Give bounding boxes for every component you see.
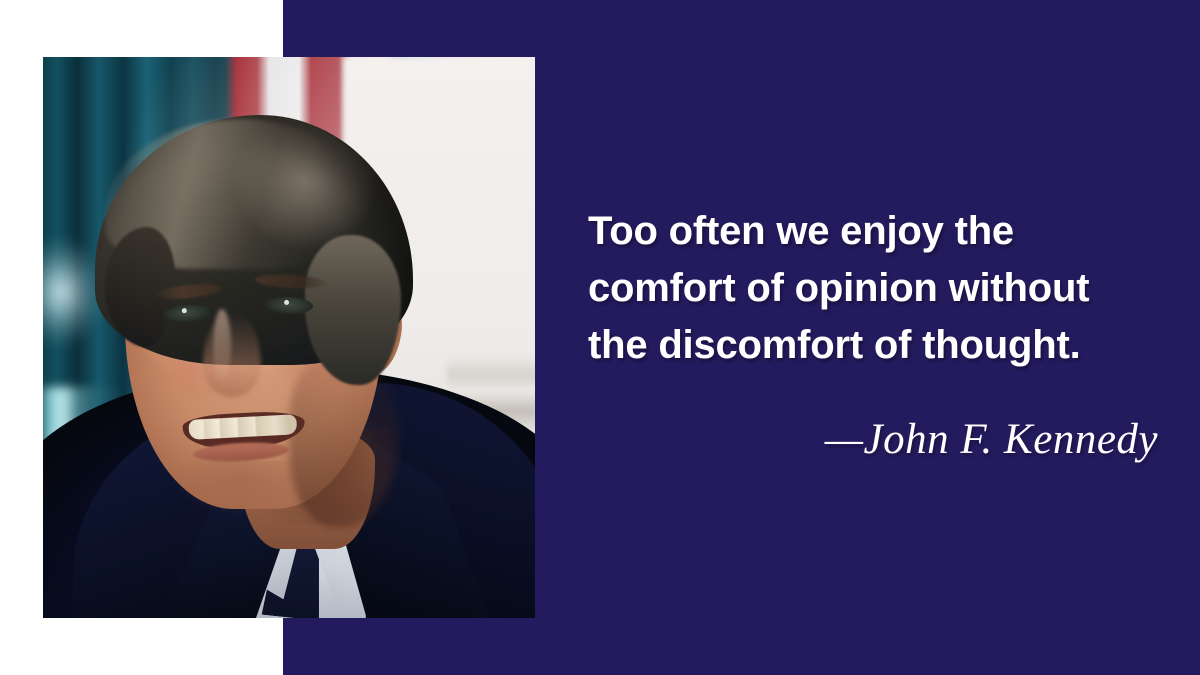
photo-figure bbox=[43, 57, 535, 618]
quote-line: Too often we enjoy the bbox=[588, 203, 1164, 260]
quote-card: LEADERSHIP QUOTE OF THE WEEK bbox=[0, 0, 1200, 675]
quote-text-block: Too often we enjoy the comfort of opinio… bbox=[588, 203, 1164, 374]
jfk-portrait-photo bbox=[43, 57, 535, 618]
vertical-banner-rail: LEADERSHIP QUOTE OF THE WEEK bbox=[0, 0, 32, 675]
figure-nose bbox=[203, 315, 261, 397]
quote-attribution: —John F. Kennedy bbox=[588, 415, 1158, 465]
figure-nose-highlight bbox=[213, 309, 231, 383]
figure-chin-shadow bbox=[173, 461, 313, 515]
figure-teeth bbox=[188, 414, 297, 440]
quote-line: the discomfort of thought. bbox=[588, 317, 1164, 374]
quote-line: comfort of opinion without bbox=[588, 260, 1164, 317]
